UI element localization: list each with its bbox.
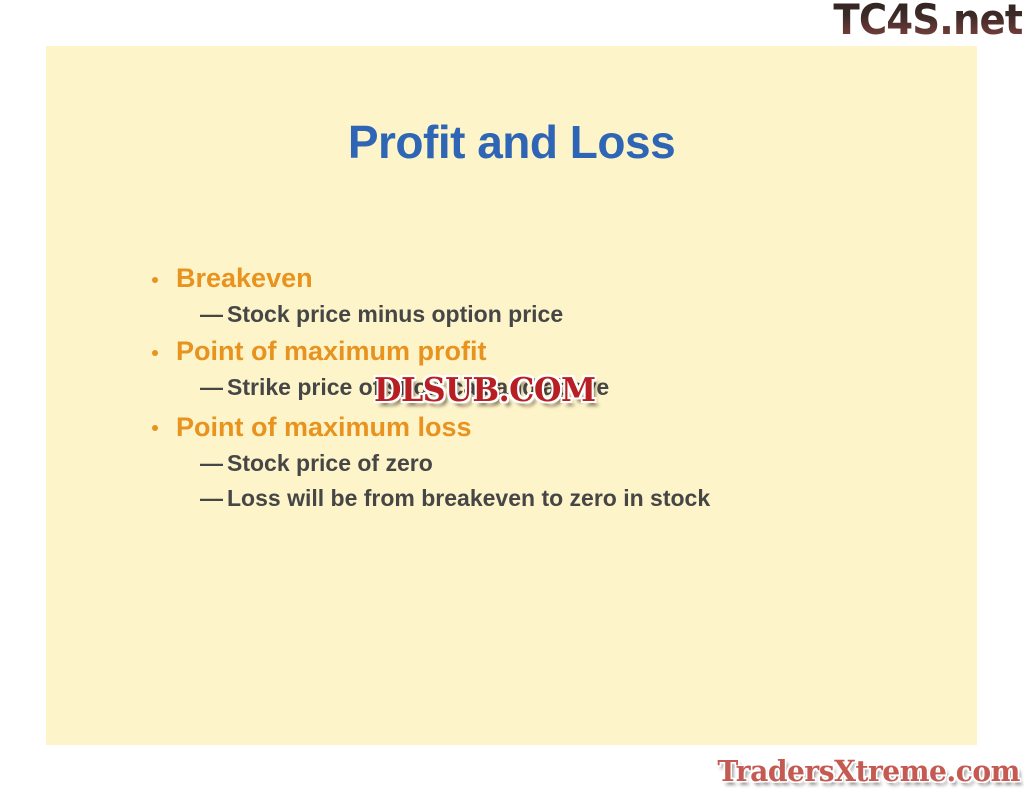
watermark-tradersxtreme: TradersXtreme.com bbox=[717, 754, 1020, 789]
page-title: Profit and Loss bbox=[46, 119, 977, 165]
bullet-group: Point of maximum loss — Stock price of z… bbox=[146, 412, 946, 513]
bullet-dot-icon bbox=[152, 350, 158, 356]
bullet-level1-label: Breakeven bbox=[176, 263, 313, 293]
em-dash-icon: — bbox=[200, 374, 223, 402]
em-dash-icon: — bbox=[200, 301, 223, 329]
bullet-level2: — Loss will be from breakeven to zero in… bbox=[146, 485, 946, 513]
bullet-dot-icon bbox=[152, 277, 158, 283]
bullet-dot-icon bbox=[152, 425, 158, 431]
bullet-level1-label: Point of maximum loss bbox=[176, 412, 472, 442]
bullet-group: Breakeven — Stock price minus option pri… bbox=[146, 263, 946, 328]
bullet-level2: — Stock price minus option price bbox=[146, 301, 946, 329]
watermark-tc4s: TC4S.net bbox=[833, 0, 1022, 44]
bullet-level1: Point of maximum profit bbox=[146, 336, 946, 368]
bullet-level2: — Stock price of zero bbox=[146, 450, 946, 478]
bullet-level2-label: Loss will be from breakeven to zero in s… bbox=[227, 485, 710, 511]
em-dash-icon: — bbox=[200, 450, 223, 478]
bullet-level1: Point of maximum loss bbox=[146, 412, 946, 444]
bullet-level1: Breakeven bbox=[146, 263, 946, 295]
em-dash-icon: — bbox=[200, 485, 223, 513]
bullet-level1-label: Point of maximum profit bbox=[176, 336, 487, 366]
watermark-dlsub: DLSUB.COM bbox=[374, 370, 596, 410]
bullet-level2-label: Stock price of zero bbox=[227, 450, 433, 476]
bullet-level2-label: Stock price minus option price bbox=[227, 301, 563, 327]
